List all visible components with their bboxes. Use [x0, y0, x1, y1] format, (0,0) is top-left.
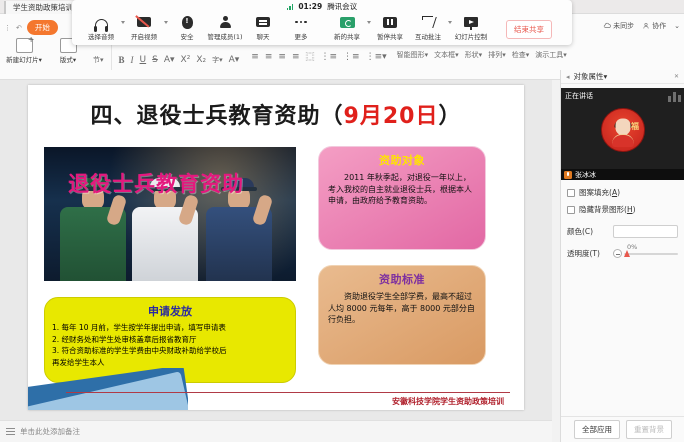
chat-icon	[256, 14, 270, 30]
annotate-label: 互动批注	[415, 31, 441, 41]
more-chevron-icon[interactable]: ⌄	[674, 22, 680, 30]
meeting-app-name: 腾讯会议	[327, 1, 357, 12]
underline-button[interactable]: U	[137, 55, 150, 65]
speaking-status-label: 正在讲话	[565, 91, 593, 101]
quick-access-toolbar: ⋮ ↶ 开始	[4, 20, 58, 35]
color-picker-button[interactable]	[613, 225, 678, 238]
photo-overlay-text[interactable]: 退役士兵教育资助	[38, 168, 274, 198]
camera-off-icon	[137, 14, 151, 30]
uniform	[60, 207, 126, 281]
collaborate-icon[interactable]: 协作	[642, 21, 666, 31]
slide-surface[interactable]: 四、退役士兵教育资助（9月20日）	[28, 85, 524, 410]
reset-background-button[interactable]: 重置背景	[626, 420, 672, 439]
tencent-meeting-toolbar: 01:29 腾讯会议 选择音频 开启视频 安全 管理成员(1)	[72, 0, 572, 45]
notes-bar[interactable]: 单击此处添加备注	[0, 420, 552, 442]
panel-header: ◂ 对象属性▾ ✕	[561, 70, 684, 84]
italic-button[interactable]: I	[128, 55, 137, 65]
arrange-button[interactable]: 排列▾	[485, 50, 509, 60]
subscript-button[interactable]: X₂	[193, 55, 209, 65]
layout-label: 版式▾	[60, 54, 76, 64]
slider-track[interactable]: 0%	[624, 253, 678, 255]
superscript-button[interactable]: X²	[178, 55, 194, 65]
orange-info-box[interactable]: 资助标准 资助退役学生全部学费，最高不超过人均 8000 元每年，高于 8000…	[318, 265, 486, 365]
annotate-button[interactable]: 互动批注	[409, 14, 447, 41]
orange-box-title: 资助标准	[319, 266, 485, 287]
slider-thumb[interactable]	[624, 250, 630, 257]
divider	[111, 42, 112, 70]
new-slide-icon	[16, 38, 33, 53]
pink-box-title: 资助对象	[319, 147, 485, 168]
saluting-arm	[106, 194, 128, 227]
color-field: 颜色(C)	[567, 225, 678, 238]
bullets-button[interactable]: ⋮≡	[318, 52, 341, 62]
undo-icon[interactable]: ↶	[16, 24, 22, 32]
more-button[interactable]: 更多	[282, 14, 320, 41]
panel-menu-icon[interactable]: ✕	[674, 73, 679, 80]
align-right-button[interactable]: ≡	[275, 52, 289, 62]
section-button[interactable]: 节▾	[90, 55, 107, 65]
pause-share-label: 暂停共享	[377, 31, 403, 41]
check-button[interactable]: 检查▾	[509, 50, 533, 60]
font-color-button[interactable]: A▾	[161, 55, 178, 65]
list-item: 3. 符合资助标准的学生学费由中央财政补助给学校后	[52, 345, 288, 357]
slide-title-suffix: ）	[438, 104, 461, 129]
present-tools-button[interactable]: 演示工具▾	[532, 50, 570, 60]
apply-all-button[interactable]: 全部应用	[574, 420, 620, 439]
uniform	[206, 207, 272, 281]
more-dots-icon	[295, 14, 307, 30]
document-tab[interactable]: 学生资助政策培训	[4, 1, 79, 14]
video-button[interactable]: 开启视频	[125, 14, 163, 41]
checkbox-box[interactable]	[567, 189, 575, 197]
shield-icon	[182, 14, 193, 30]
manage-members-label: 管理成员(1)	[207, 31, 242, 41]
hide-background-checkbox[interactable]: 隐藏背景图形(H)	[567, 204, 678, 215]
security-label: 安全	[181, 31, 194, 41]
list-item: 2. 经财务处和学生处审核盖章后报省教育厅	[52, 334, 288, 346]
text-direction-button[interactable]: ⿴	[302, 50, 317, 63]
bold-button[interactable]: B	[116, 55, 128, 65]
orange-box-body: 资助退役学生全部学费，最高不超过人均 8000 元每年，高于 8000 元部分自…	[319, 287, 485, 326]
participant-name: 张冰冰	[575, 170, 596, 180]
yellow-box-title: 申请发放	[45, 298, 295, 319]
panel-footer: 全部应用 重置背景	[561, 416, 684, 442]
color-label: 颜色(C)	[567, 226, 613, 237]
manage-members-button[interactable]: 管理成员(1)	[206, 14, 244, 41]
audio-wave-icon	[668, 92, 681, 102]
pattern-fill-label: 图案填充(A)	[579, 187, 620, 198]
collab-glyph	[642, 22, 650, 30]
participant-name-bar: 张冰冰	[561, 169, 684, 180]
meeting-timer: 01:29	[298, 2, 322, 11]
panel-title[interactable]: 对象属性▾	[574, 71, 608, 82]
cloud-glyph	[603, 22, 611, 30]
uniform	[132, 207, 198, 281]
highlight-button[interactable]: A▾	[226, 55, 243, 65]
shape-button[interactable]: 形状▾	[462, 50, 486, 60]
sync-status-label: 未同步	[613, 21, 634, 31]
menu-icon[interactable]: ⋮	[4, 24, 11, 32]
numbering-button[interactable]: ⋮≡	[340, 52, 363, 62]
headset-icon	[95, 14, 108, 30]
transparency-field: 透明度(T) 0%	[567, 248, 678, 259]
slide-canvas[interactable]: 四、退役士兵教育资助（9月20日）	[0, 80, 552, 420]
avatar: 福	[601, 108, 645, 152]
avatar-dress	[612, 134, 634, 147]
start-button[interactable]: 开始	[27, 20, 58, 35]
pink-info-box[interactable]: 资助对象 2011 年秋季起，对退役一年以上，考入我校的自主就业退役士兵，根据本…	[318, 146, 486, 250]
audio-button[interactable]: 选择音频	[82, 14, 120, 41]
strikethrough-button[interactable]: S	[149, 55, 161, 65]
text-effect-button[interactable]: 字▾	[209, 55, 226, 65]
list-item: 再发给学生本人	[52, 357, 288, 369]
chat-label: 聊天	[257, 31, 270, 41]
transparency-slider[interactable]: 0%	[613, 249, 678, 258]
cloud-sync-icon[interactable]: 未同步	[603, 21, 634, 31]
fu-character-icon: 福	[631, 121, 639, 132]
footer-rule	[66, 392, 510, 393]
end-share-button[interactable]: 结束共享	[506, 20, 552, 39]
transparency-label: 透明度(T)	[567, 248, 613, 259]
slide-control-icon	[464, 14, 478, 30]
slide-footer-text: 安徽科技学院学生资助政策培训	[28, 396, 510, 407]
textbox-button[interactable]: 文本框▾	[431, 50, 462, 60]
checkbox-box[interactable]	[567, 206, 575, 214]
new-slide-label: 新建幻灯片▾	[6, 54, 42, 64]
decrease-icon[interactable]	[613, 249, 622, 258]
object-properties-panel: ◂ 对象属性▾ ✕ 正在讲话 福 张冰冰 图案填充(A)	[560, 70, 684, 442]
audio-label: 选择音频	[88, 31, 114, 41]
chat-button[interactable]: 聊天	[244, 14, 282, 41]
yellow-box-body: 1. 每年 10 月前，学生按学年提出申请，填写申请表 2. 经财务处和学生处审…	[45, 319, 295, 368]
multilevel-list-button[interactable]: ⋮≡▾	[363, 52, 390, 62]
video-tile[interactable]: 正在讲话 福 张冰冰	[561, 88, 684, 180]
list-item: 1. 每年 10 月前，学生按学年提出申请，填写申请表	[52, 322, 288, 334]
security-button[interactable]: 安全	[168, 14, 206, 41]
notes-icon	[6, 428, 15, 435]
person-icon	[219, 14, 232, 30]
more-label: 更多	[295, 31, 308, 41]
align-left-button[interactable]: ≡	[248, 52, 262, 62]
panel-body: 图案填充(A) 隐藏背景图形(H) 颜色(C) 透明度(T) 0%	[561, 180, 684, 259]
slide-control-label: 幻灯片控制	[455, 31, 488, 41]
collaborate-label: 协作	[652, 21, 666, 31]
new-share-label: 新的共享	[334, 31, 360, 41]
screen-share-icon	[340, 14, 355, 30]
align-justify-button[interactable]: ≡	[289, 52, 303, 62]
pause-share-icon	[383, 14, 397, 30]
pause-share-button[interactable]: 暂停共享	[371, 14, 409, 41]
hide-background-label: 隐藏背景图形(H)	[579, 204, 636, 215]
smartart-button[interactable]: 智能图形▾	[394, 50, 432, 60]
pattern-fill-checkbox[interactable]: 图案填充(A)	[567, 187, 678, 198]
pink-box-body: 2011 年秋季起，对退役一年以上，考入我校的自主就业退役士兵，根据本人申请，由…	[319, 168, 485, 207]
video-label: 开启视频	[131, 31, 157, 41]
notes-placeholder: 单击此处添加备注	[20, 426, 80, 437]
microphone-icon	[564, 171, 572, 179]
new-share-button[interactable]: 新的共享	[328, 14, 366, 41]
signal-bars-icon	[287, 4, 294, 10]
align-center-button[interactable]: ≡	[262, 52, 276, 62]
meeting-tool-row: 选择音频 开启视频 安全 管理成员(1) 聊天 更多	[72, 13, 572, 41]
slide-control-button[interactable]: 幻灯片控制	[452, 14, 490, 41]
avatar-face	[616, 118, 631, 135]
slide-title[interactable]: 四、退役士兵教育资助（9月20日）	[28, 98, 524, 130]
ribbon-right-actions: 未同步 协作 ⌄	[603, 21, 680, 31]
annotate-icon	[421, 14, 435, 30]
collapse-icon[interactable]: ◂	[566, 73, 570, 81]
new-slide-button[interactable]: 新建幻灯片▾	[2, 36, 46, 64]
saluting-arm	[252, 194, 274, 227]
meeting-status-bar: 01:29 腾讯会议	[72, 0, 572, 13]
slide-title-date: 9月20日	[344, 104, 439, 129]
saluting-arm	[178, 194, 200, 227]
slide-title-prefix: 四、退役士兵教育资助（	[91, 104, 344, 129]
